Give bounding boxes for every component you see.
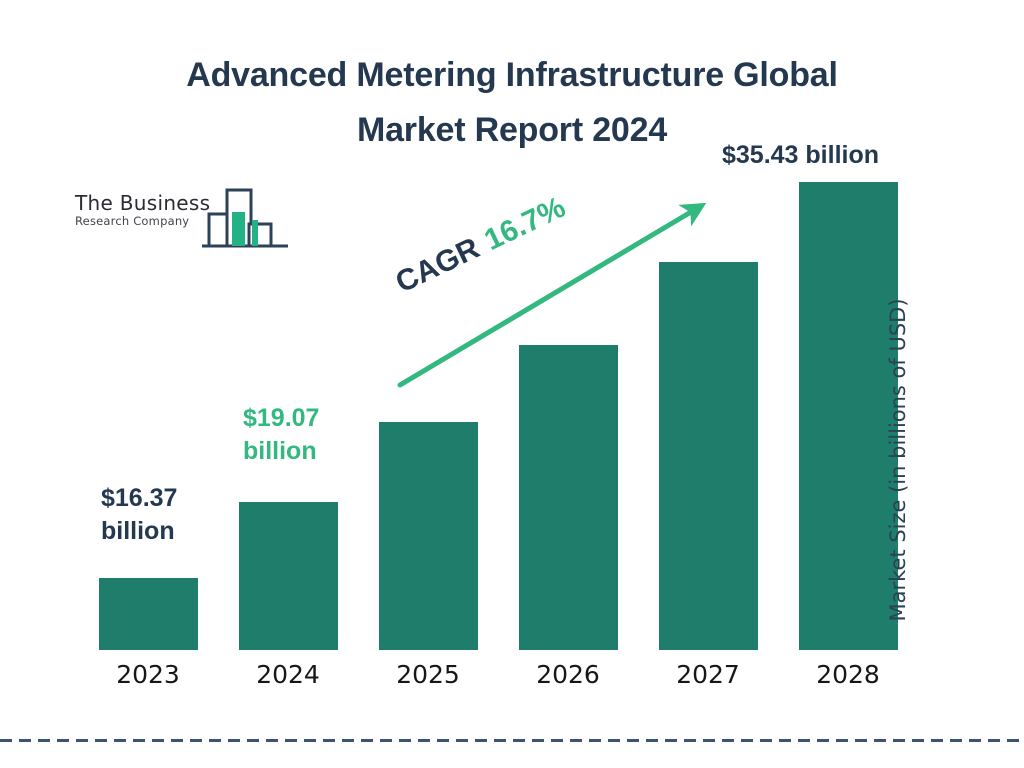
bar-2025[interactable]	[379, 422, 478, 650]
x-tick-2023: 2023	[88, 660, 208, 689]
x-tick-2026: 2026	[508, 660, 628, 689]
y-axis-title: Market Size (in billions of USD)	[886, 270, 910, 650]
bar-2023[interactable]	[99, 578, 198, 650]
bar-chart-plot: $16.37 billion $19.07 billion $35.43 bil…	[0, 0, 1024, 768]
cagr-annotation: CAGR16.7%	[391, 191, 571, 301]
x-tick-2028: 2028	[788, 660, 908, 689]
bottom-divider	[0, 729, 1024, 732]
bar-2024[interactable]	[239, 502, 338, 650]
x-tick-2025: 2025	[368, 660, 488, 689]
bar-2026[interactable]	[519, 345, 618, 650]
x-tick-2027: 2027	[648, 660, 768, 689]
value-label-2023: $16.37 billion	[101, 482, 177, 548]
value-label-2024: $19.07 billion	[243, 402, 319, 468]
bar-2028[interactable]	[799, 182, 898, 650]
cagr-label: CAGR	[391, 232, 485, 300]
chart-canvas: Advanced Metering Infrastructure Global …	[0, 0, 1024, 768]
bar-2027[interactable]	[659, 262, 758, 650]
x-tick-2024: 2024	[228, 660, 348, 689]
value-label-2028: $35.43 billion	[722, 139, 879, 172]
cagr-value: 16.7%	[479, 191, 570, 257]
